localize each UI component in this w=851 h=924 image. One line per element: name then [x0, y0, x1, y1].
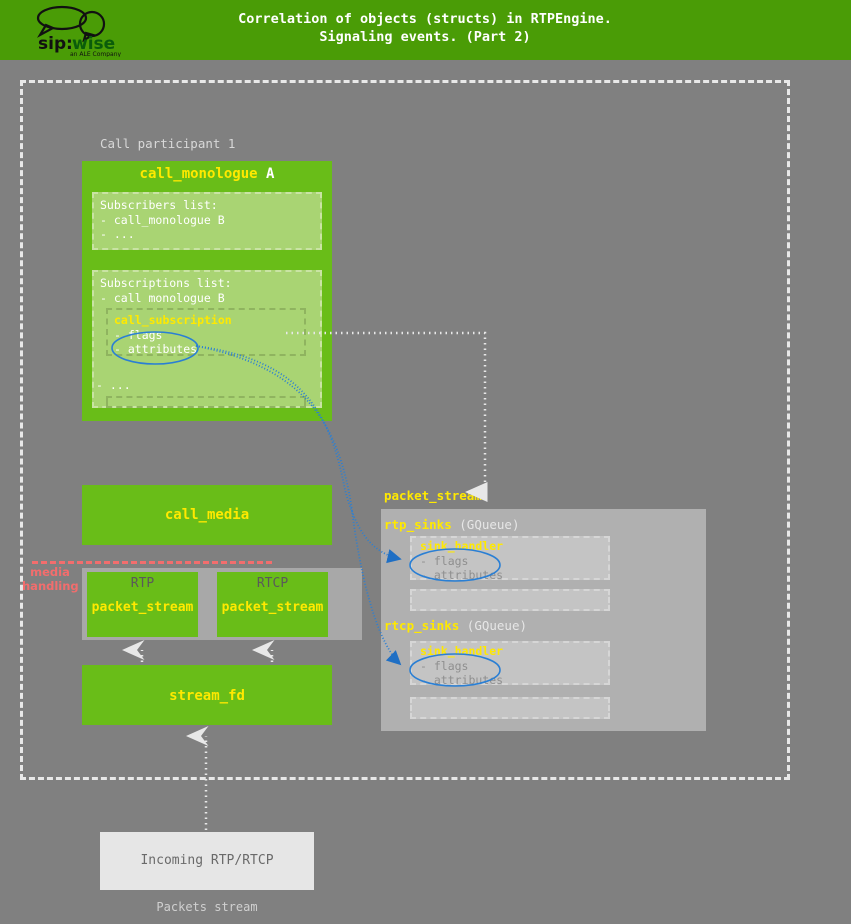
diagram-canvas: Call participant 1 call_monologue A Subs… — [0, 60, 851, 924]
svg-text:an ALE Company: an ALE Company — [70, 51, 122, 57]
svg-text:sip: sip — [38, 34, 66, 54]
rtp-sink-handler-box: sink_handler - flags - attributes — [410, 536, 610, 580]
call-monologue-a-title: call_monologue A — [82, 166, 332, 182]
rtp-sink-handler-title: sink_handler — [420, 539, 503, 553]
rtcp-sinks-type: (GQueue) — [467, 618, 527, 633]
subscriptions-more-item: - ... — [96, 378, 131, 392]
subscriptions-heading: Subscriptions list: — [100, 276, 232, 290]
call-subscription-title: call_subscription — [114, 313, 232, 327]
subscribers-list-box: Subscribers list: - call_monologue B - .… — [92, 192, 322, 250]
page-title: Correlation of objects (structs) in RTPE… — [150, 10, 700, 46]
rtcp-sink-handler-title: sink_handler — [420, 644, 503, 658]
rtcp-sink-handler-empty — [410, 697, 610, 719]
call-subscription-box-empty — [106, 396, 306, 408]
subscribers-items: - call_monologue B - ... — [100, 213, 225, 242]
call-media-title: call_media — [82, 507, 332, 523]
rtcp-sinks-label: rtcp_sinks (GQueue) — [384, 618, 527, 633]
stream-fd-title: stream_fd — [82, 688, 332, 704]
rtp-sinks-name: rtp_sinks — [384, 517, 452, 532]
call-subscription-fields: - flags - attributes — [114, 328, 197, 357]
call-monologue-a-struct: call_monologue — [140, 166, 258, 182]
rtcp-sink-handler-fields: - flags - attributes — [420, 659, 503, 688]
packets-stream-caption: Packets stream — [100, 900, 314, 914]
rtp-sinks-type: (GQueue) — [459, 517, 519, 532]
incoming-packets-box: Incoming RTP/RTCP — [100, 832, 314, 890]
rtcp-sinks-name: rtcp_sinks — [384, 618, 459, 633]
rtcp-struct-label: packet_stream — [212, 600, 333, 615]
rtp-sink-handler-fields: - flags - attributes — [420, 554, 503, 583]
call-subscription-box: call_subscription - flags - attributes — [106, 308, 306, 356]
media-handling-divider — [32, 561, 272, 564]
app-header: sip : wise an ALE Company Correlation of… — [0, 0, 851, 60]
rtp-struct-label: packet_stream — [82, 600, 203, 615]
rtp-proto-label: RTP — [87, 576, 198, 591]
rtcp-sink-handler-box: sink_handler - flags - attributes — [410, 641, 610, 685]
call-participant-label: Call participant 1 — [100, 136, 235, 151]
incoming-packets-label: Incoming RTP/RTCP — [100, 853, 314, 868]
rtcp-proto-label: RTCP — [217, 576, 328, 591]
subscribers-heading: Subscribers list: — [100, 198, 218, 212]
subscriptions-first-item: - call monologue B — [100, 291, 225, 305]
packet-stream-title: packet_stream — [384, 488, 482, 503]
rtp-sink-handler-empty — [410, 589, 610, 611]
rtp-sinks-label: rtp_sinks (GQueue) — [384, 517, 519, 532]
call-monologue-a-suffix: A — [266, 166, 274, 182]
media-handling-label: media handling — [22, 565, 78, 593]
sipwise-logo: sip : wise an ALE Company — [30, 3, 130, 57]
